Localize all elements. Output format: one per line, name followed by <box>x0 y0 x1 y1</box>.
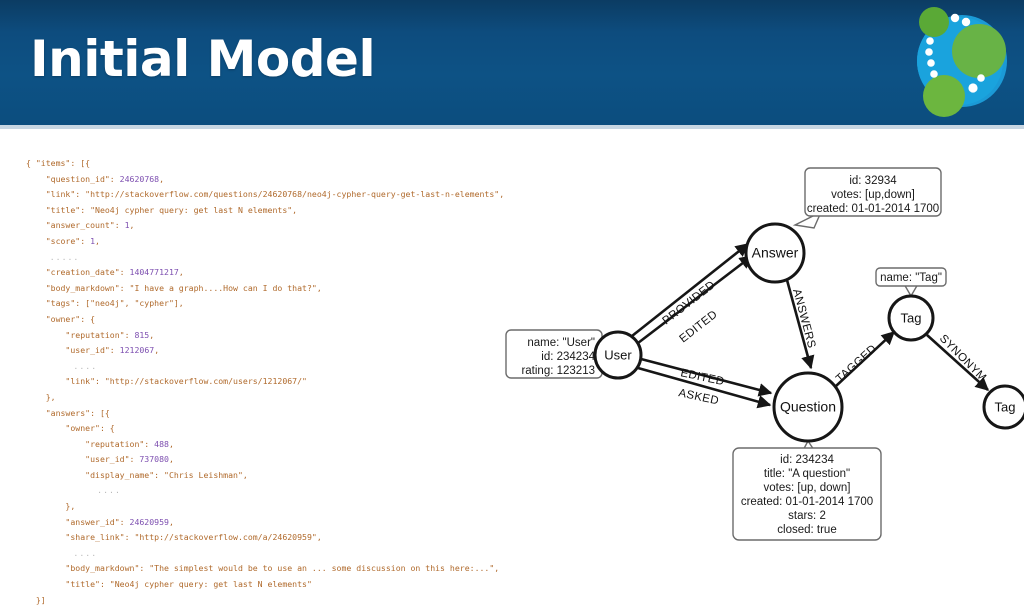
callout-question: id: 234234 title: "A question" votes: [u… <box>733 441 881 540</box>
callout-question-line-1: title: "A question" <box>764 468 850 480</box>
code-line: }, <box>26 501 75 511</box>
callout-user-line-1: id: 234234 <box>541 351 595 363</box>
code-line: "question_id": 24620768, <box>26 174 164 184</box>
callout-answer-line-1: votes: [up,down] <box>831 189 915 201</box>
code-line: "tags": ["neo4j", "cypher"], <box>26 298 184 308</box>
callout-answer-line-0: id: 32934 <box>849 175 897 187</box>
callout-answer-line-2: created: 01-01-2014 1700 <box>807 203 939 215</box>
callout-answer: id: 32934 votes: [up,down] created: 01-0… <box>795 168 941 228</box>
code-line: "owner": { <box>26 314 95 324</box>
callout-question-line-0: id: 234234 <box>780 454 834 466</box>
callout-user-line-0: name: "User" <box>527 337 595 349</box>
slide-header: Initial Model <box>0 0 1024 125</box>
rel-label-answers: ANSWERS <box>790 288 817 350</box>
code-line: }] <box>26 595 46 605</box>
callout-question-line-2: votes: [up, down] <box>764 482 851 494</box>
code-line: "owner": { <box>26 423 115 433</box>
node-question: Question <box>774 373 842 441</box>
slide: Initial Model { "items": [{ "question_id… <box>0 0 1024 553</box>
neo4j-logo-icon <box>904 4 1012 120</box>
page-title: Initial Model <box>30 30 375 88</box>
node-user: User <box>595 332 641 378</box>
code-line: "answer_id": 24620959, <box>26 517 174 527</box>
node-tag-2: Tag <box>984 386 1024 428</box>
callout-tag-line-0: name: "Tag" <box>880 272 942 284</box>
code-line: "answer_count": 1, <box>26 220 134 230</box>
node-user-label: User <box>604 347 632 362</box>
code-line: "reputation": 815, <box>26 330 154 340</box>
json-code-block: { "items": [{ "question_id": 24620768, "… <box>26 156 546 608</box>
callout-question-line-5: closed: true <box>777 524 836 536</box>
node-answer: Answer <box>746 224 804 282</box>
code-line: "user_id": 1212067, <box>26 345 159 355</box>
callout-question-line-3: created: 01-01-2014 1700 <box>741 496 873 508</box>
code-line: .... <box>26 485 121 495</box>
rel-label-synonym: SYNONYM <box>937 333 989 385</box>
node-answer-label: Answer <box>752 245 799 261</box>
code-line: "user_id": 737080, <box>26 454 174 464</box>
code-line: { "items": [{ <box>26 158 90 168</box>
code-line: .... <box>26 361 97 371</box>
callout-user-line-2: rating: 123213 <box>521 365 595 377</box>
code-line: "link": "http://stackoverflow.com/questi… <box>26 189 504 199</box>
node-question-label: Question <box>780 399 836 415</box>
graph-model-diagram: PROVIDED EDITED ANSWERS EDITED ASKED TAG… <box>480 140 1024 553</box>
edge-provided <box>632 244 748 336</box>
code-line: "creation_date": 1404771217, <box>26 267 184 277</box>
header-divider <box>0 125 1024 129</box>
code-line: "title": "Neo4j cypher query: get last N… <box>26 205 297 215</box>
code-line: "display_name": "Chris Leishman", <box>26 470 248 480</box>
code-line: "body_markdown": "I have a graph....How … <box>26 283 322 293</box>
node-tag-1-label: Tag <box>901 310 922 325</box>
code-line: ..... <box>26 252 79 262</box>
code-line: "answers": [{ <box>26 408 110 418</box>
callout-question-line-4: stars: 2 <box>788 510 826 522</box>
node-tag-1: Tag <box>889 296 933 340</box>
callout-tag: name: "Tag" <box>876 268 946 296</box>
code-line: "link": "http://stackoverflow.com/users/… <box>26 376 307 386</box>
code-line: "reputation": 488, <box>26 439 174 449</box>
rel-label-tagged: TAGGED <box>834 343 879 385</box>
code-line: "score": 1, <box>26 236 100 246</box>
code-line: "body_markdown": "The simplest would be … <box>26 563 499 573</box>
code-line: }, <box>26 392 56 402</box>
code-line: "title": "Neo4j cypher query: get last N… <box>26 579 312 589</box>
node-tag-2-label: Tag <box>995 399 1016 414</box>
code-line: "share_link": "http://stackoverflow.com/… <box>26 532 322 542</box>
